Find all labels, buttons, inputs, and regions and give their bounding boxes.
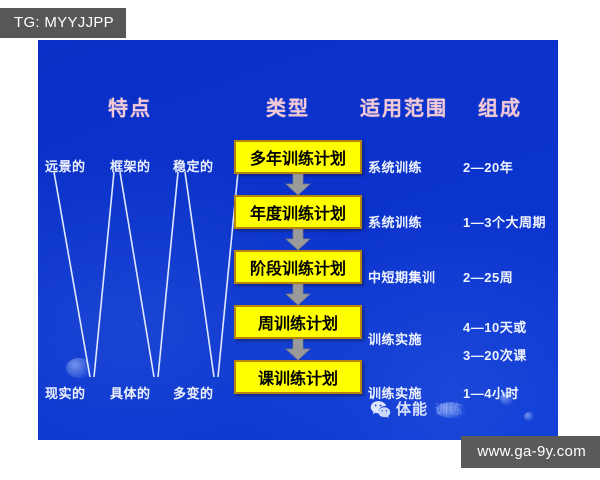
plan-box-label: 课训练计划 bbox=[258, 365, 338, 389]
column-header-composition: 组成 bbox=[478, 92, 522, 121]
wechat-ghost-label: 训练 bbox=[435, 399, 463, 418]
plan-box-annual[interactable]: 年度训练计划 bbox=[234, 195, 362, 229]
composition-value-row-3: 4—10天或 bbox=[463, 317, 527, 336]
composition-value-row-1: 1—3个大周期 bbox=[463, 212, 546, 231]
plan-box-lesson[interactable]: 课训练计划 bbox=[234, 360, 362, 394]
composition-value-row-3-line2: 3—20次课 bbox=[463, 345, 527, 364]
composition-value-row-0: 2—20年 bbox=[463, 157, 513, 176]
column-header-scope: 适用范围 bbox=[360, 92, 448, 121]
plan-box-label: 阶段训练计划 bbox=[250, 255, 346, 279]
scope-value-row-2: 中短期集训 bbox=[368, 267, 436, 286]
training-plan-flow: 多年训练计划 年度训练计划 阶段训练计划 周训练计划 bbox=[234, 140, 362, 394]
down-arrow-icon bbox=[285, 284, 311, 305]
column-header-characteristics: 特点 bbox=[108, 92, 152, 121]
composition-value-row-2: 2—25周 bbox=[463, 267, 513, 286]
wechat-label: 体能 bbox=[396, 398, 428, 419]
scope-value-row-3: 训练实施 bbox=[368, 329, 422, 348]
scope-value-row-0: 系统训练 bbox=[368, 157, 422, 176]
plan-box-phase[interactable]: 阶段训练计划 bbox=[234, 250, 362, 284]
wechat-watermark: 体能 训练 bbox=[370, 398, 463, 419]
wechat-icon bbox=[370, 400, 391, 418]
slide-panel: 特点 类型 适用范围 组成 远景的 框架的 稳定的 现实的 具体的 多变的 多年… bbox=[38, 40, 558, 440]
flow-connector-arrow bbox=[234, 229, 362, 250]
down-arrow-icon bbox=[285, 229, 311, 250]
flow-connector-arrow bbox=[234, 174, 362, 195]
plan-box-label: 年度训练计划 bbox=[250, 200, 346, 224]
feature-bottom-label-0: 现实的 bbox=[45, 383, 86, 402]
flow-connector-arrow bbox=[234, 284, 362, 305]
site-watermark-tag: www.ga-9y.com bbox=[461, 436, 600, 468]
flow-connector-arrow bbox=[234, 339, 362, 360]
down-arrow-icon bbox=[285, 339, 311, 360]
feature-bottom-label-1: 具体的 bbox=[110, 383, 151, 402]
plan-box-label: 多年训练计划 bbox=[250, 145, 346, 169]
down-arrow-icon bbox=[285, 174, 311, 195]
feature-bottom-label-2: 多变的 bbox=[173, 383, 214, 402]
plan-box-weekly[interactable]: 周训练计划 bbox=[234, 305, 362, 339]
scope-value-row-1: 系统训练 bbox=[368, 212, 422, 231]
converging-v-lines bbox=[38, 172, 248, 377]
composition-value-row-4: 1—4小时 bbox=[463, 383, 519, 402]
plan-box-label: 周训练计划 bbox=[258, 310, 338, 334]
bokeh-blob bbox=[524, 412, 534, 421]
tg-watermark-tag: TG: MYYJJPP bbox=[0, 8, 126, 38]
column-header-type: 类型 bbox=[266, 92, 310, 121]
column-header-row: 特点 类型 适用范围 组成 bbox=[38, 92, 558, 122]
plan-box-multi-year[interactable]: 多年训练计划 bbox=[234, 140, 362, 174]
